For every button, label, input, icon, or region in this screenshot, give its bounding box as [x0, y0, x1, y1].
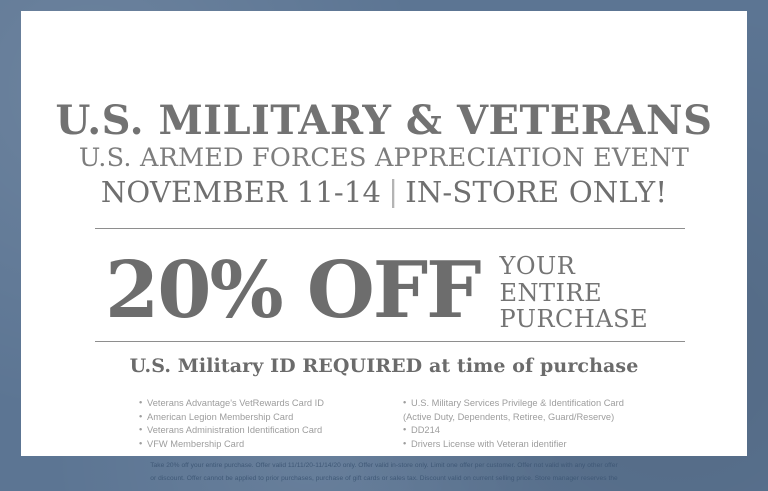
bullet-dot-icon: • — [403, 437, 411, 451]
list-item-label: American Legion Membership Card — [147, 412, 293, 422]
accepted-ids-right-column: •U.S. Military Services Privilege & Iden… — [403, 397, 678, 451]
qualifier-line-2: ENTIRE — [500, 280, 649, 307]
bullet-dot-icon: • — [139, 410, 147, 424]
offer-block: 20% OFF YOUR ENTIRE PURCHASE — [95, 249, 691, 335]
list-item-label: DD214 — [411, 425, 440, 435]
fine-print-line-1: Take 20% off your entire purchase. Offer… — [0, 456, 768, 473]
list-item-label: U.S. Military Services Privilege & Ident… — [411, 398, 624, 408]
qualifier-line-1: YOUR — [500, 253, 649, 280]
bullet-dot-icon: • — [403, 424, 411, 438]
list-item: •American Legion Membership Card — [139, 411, 379, 425]
accepted-ids-right-note: (Active Duty, Dependents, Retiree, Guard… — [403, 411, 678, 425]
divider-bottom — [95, 341, 685, 342]
coupon-card: U.S. MILITARY & VETERANS U.S. ARMED FORC… — [21, 11, 747, 456]
list-item: •U.S. Military Services Privilege & Iden… — [403, 397, 678, 411]
list-item-label: Veterans Advantage's VetRewards Card ID — [147, 398, 324, 408]
qualifier-line-3: PURCHASE — [500, 306, 649, 333]
event-dates-line: NOVEMBER 11-14|IN-STORE ONLY! — [21, 174, 747, 210]
list-item: •VFW Membership Card — [139, 438, 379, 452]
bullet-dot-icon: • — [403, 397, 411, 411]
event-dates: NOVEMBER 11-14 — [101, 175, 381, 209]
list-item: •Veterans Administration Identification … — [139, 424, 379, 438]
bullet-dot-icon: • — [139, 397, 147, 411]
list-item: •Veterans Advantage's VetRewards Card ID — [139, 397, 379, 411]
list-item-label: Drivers License with Veteran identifier — [411, 439, 567, 449]
discount-amount: 20% OFF — [105, 249, 480, 333]
accepted-ids-left-column: •Veterans Advantage's VetRewards Card ID… — [139, 397, 379, 451]
discount-qualifier: YOUR ENTIRE PURCHASE — [500, 253, 649, 333]
accepted-ids: •Veterans Advantage's VetRewards Card ID… — [139, 397, 684, 451]
event-channel: IN-STORE ONLY! — [405, 175, 667, 209]
page-title: U.S. MILITARY & VETERANS — [21, 99, 747, 143]
list-item-label: Veterans Administration Identification C… — [147, 425, 322, 435]
list-item: •Drivers License with Veteran identifier — [403, 438, 678, 452]
fine-print: Take 20% off your entire purchase. Offer… — [0, 456, 768, 491]
list-item-label: VFW Membership Card — [147, 439, 244, 449]
date-channel-separator: | — [381, 173, 405, 209]
coupon-page: U.S. MILITARY & VETERANS U.S. ARMED FORC… — [0, 0, 768, 491]
id-requirement-text: U.S. Military ID REQUIRED at time of pur… — [21, 355, 747, 377]
bullet-dot-icon: • — [139, 437, 147, 451]
coupon-header: U.S. MILITARY & VETERANS U.S. ARMED FORC… — [21, 99, 747, 210]
bullet-dot-icon: • — [139, 424, 147, 438]
list-item: •DD214 — [403, 424, 678, 438]
fine-print-line-2: or discount. Offer cannot be applied to … — [0, 473, 768, 486]
event-subtitle: U.S. ARMED FORCES APPRECIATION EVENT — [21, 143, 747, 174]
divider-top — [95, 228, 685, 229]
